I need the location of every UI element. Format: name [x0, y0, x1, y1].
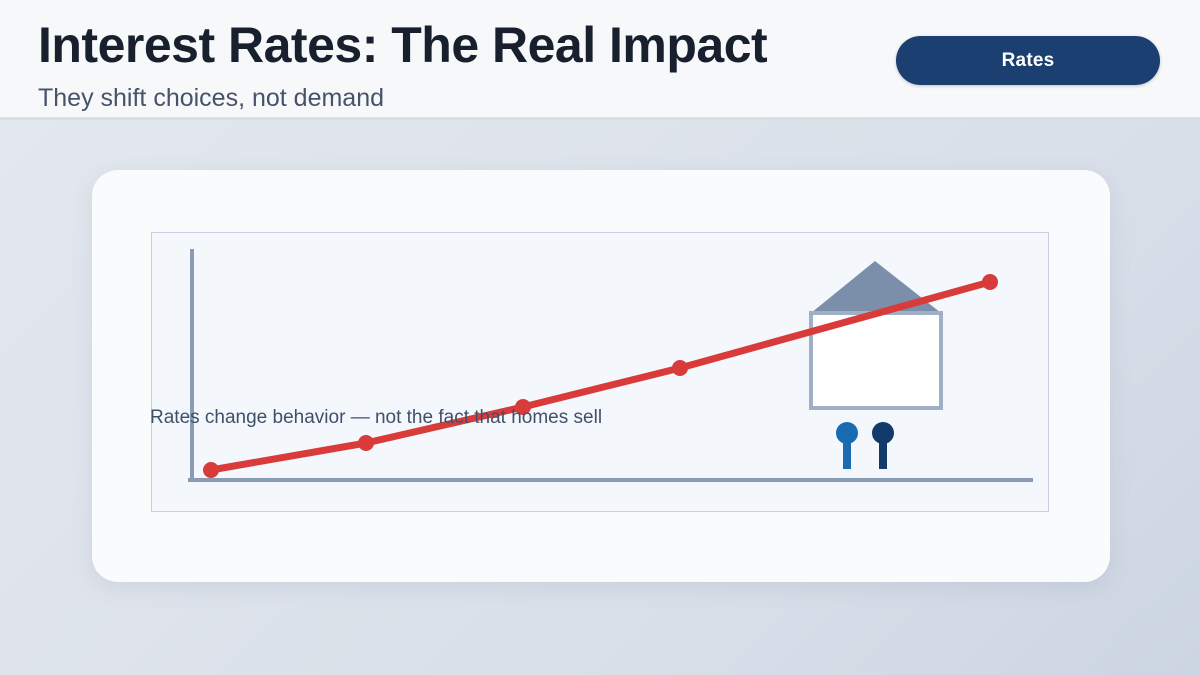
status-badge-label: Rates	[1002, 51, 1055, 70]
data-point	[672, 360, 688, 376]
page-subtitle: They shift choices, not demand	[38, 86, 384, 111]
chart-caption: Rates change behavior — not the fact tha…	[150, 408, 602, 427]
house-roof-icon	[811, 261, 941, 313]
line-chart	[152, 233, 1050, 513]
data-point	[203, 462, 219, 478]
data-point	[982, 274, 998, 290]
page-title: Interest Rates: The Real Impact	[38, 20, 767, 70]
status-badge[interactable]: Rates	[896, 36, 1160, 85]
chart-frame	[151, 232, 1049, 512]
chart-card: Rates change behavior — not the fact tha…	[92, 170, 1110, 582]
data-point	[358, 435, 374, 451]
slide-root: Interest Rates: The Real Impact They shi…	[0, 0, 1200, 675]
house-icon	[811, 261, 941, 408]
person-figure-right	[872, 422, 894, 469]
person-figure-left	[836, 422, 858, 469]
